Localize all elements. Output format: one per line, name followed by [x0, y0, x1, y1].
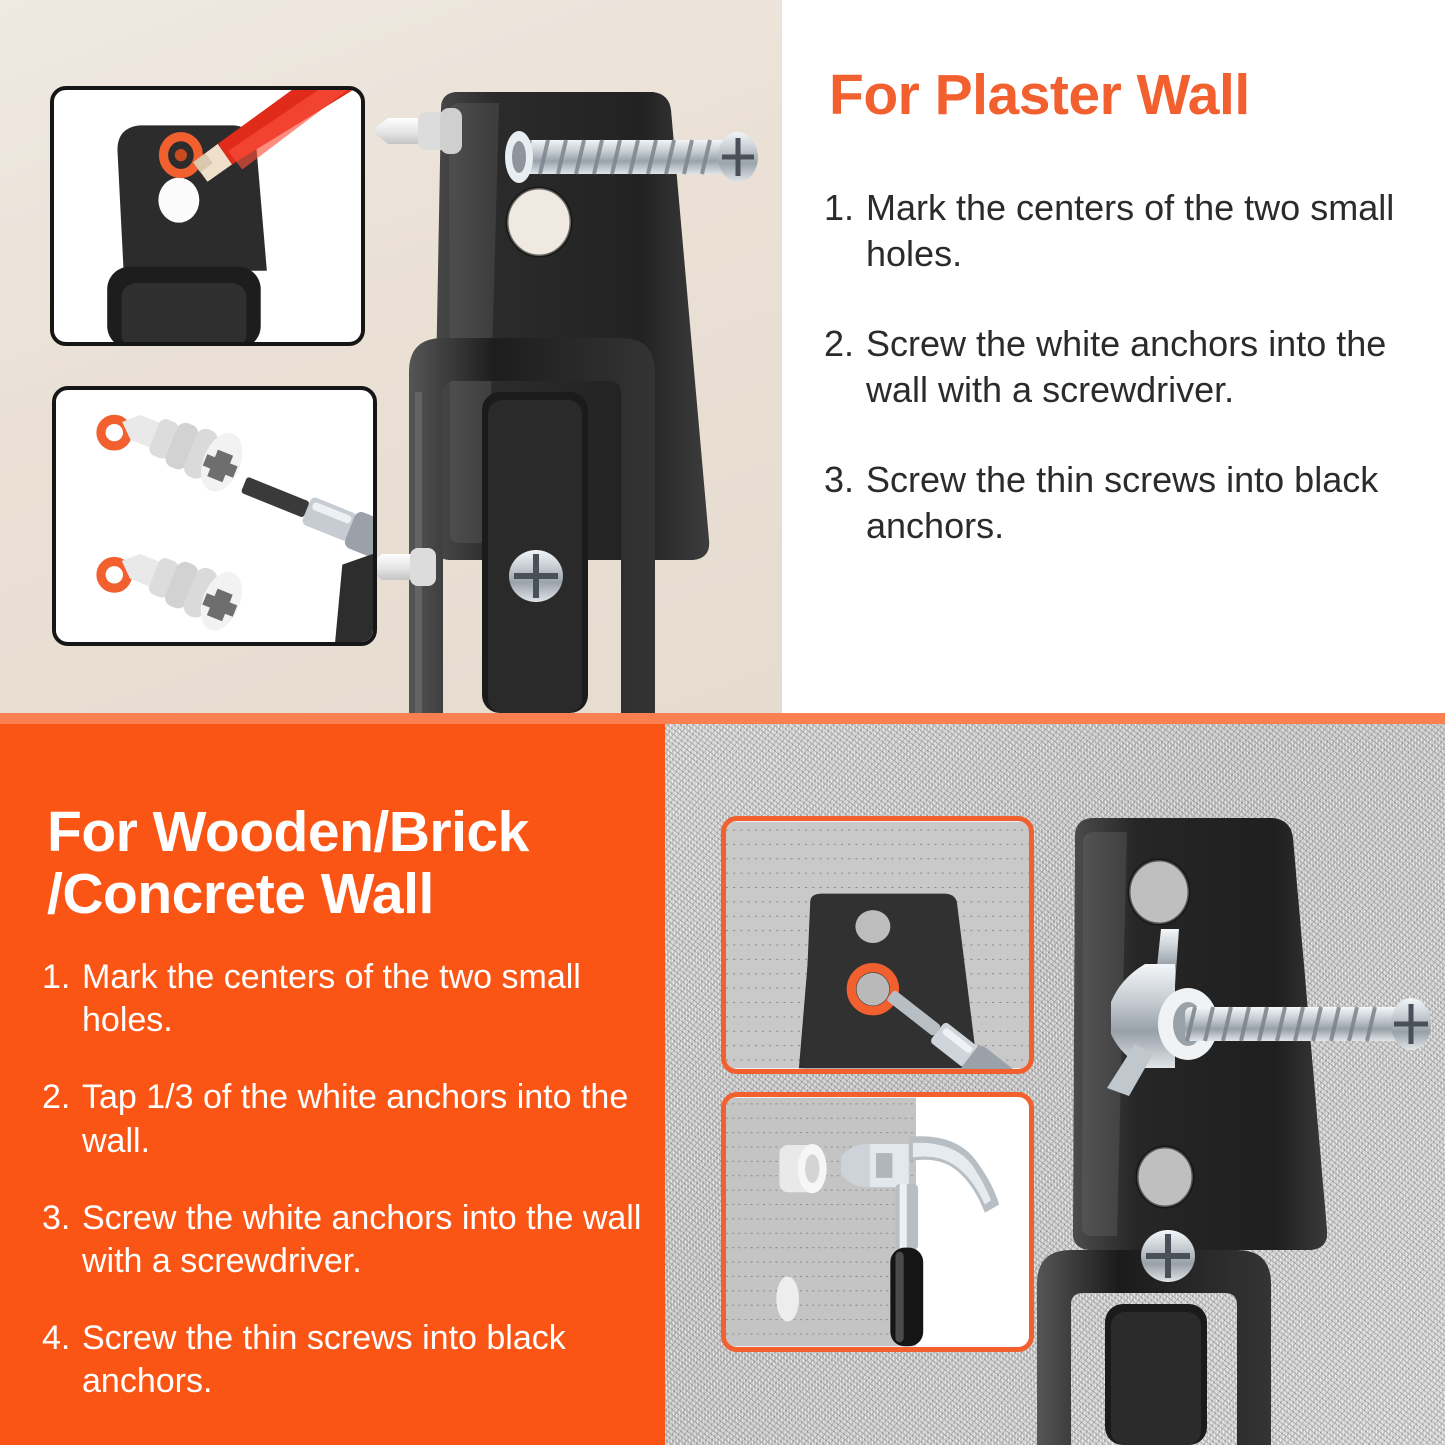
step-text: Mark the centers of the two small holes. — [866, 185, 1434, 277]
plaster-wall-section: MA — [0, 0, 1445, 713]
plaster-wall-steps: 1. Mark the centers of the two small hol… — [824, 185, 1434, 593]
plaster-wall-heading: For Plaster Wall — [829, 66, 1429, 126]
plaster-wall-photo: MA — [0, 0, 782, 713]
concrete-wall-photo — [665, 724, 1445, 1445]
pencil-marking-inset: MA — [50, 86, 365, 346]
step-text: Screw the white anchors into the wall wi… — [82, 1197, 642, 1283]
anchor-screwdriver-illustration — [56, 390, 373, 642]
step-text: Screw the white anchors into the wall wi… — [866, 321, 1434, 413]
drill-hole-inset — [721, 816, 1034, 1074]
list-item: 1. Mark the centers of the two small hol… — [824, 185, 1434, 277]
step-text: Screw the thin screws into black anchors… — [866, 457, 1434, 549]
list-item: 2. Tap 1/3 of the white anchors into the… — [42, 1076, 642, 1162]
step-text: Tap 1/3 of the white anchors into the wa… — [82, 1076, 642, 1162]
step-text: Mark the centers of the two small holes. — [82, 956, 642, 1042]
drill-hole-illustration — [726, 821, 1029, 1069]
step-number: 4. — [42, 1317, 82, 1403]
plaster-wall-text: For Plaster Wall 1. Mark the centers of … — [782, 0, 1445, 713]
step-number: 3. — [42, 1197, 82, 1283]
installed-screw-head — [509, 550, 563, 602]
list-item: 3. Screw the white anchors into the wall… — [42, 1197, 642, 1283]
pencil-marking-illustration: MA — [54, 90, 361, 342]
step-number: 1. — [824, 185, 866, 277]
list-item: 2. Screw the white anchors into the wall… — [824, 321, 1434, 413]
list-item: 4. Screw the thin screws into black anch… — [42, 1317, 642, 1403]
heading-line-1: For Wooden/Brick — [47, 800, 529, 864]
white-anchor-top — [372, 108, 462, 154]
installed-screw-head — [1141, 1230, 1195, 1282]
hammer-anchor-illustration — [726, 1097, 1029, 1347]
section-divider — [0, 713, 1445, 724]
step-number: 2. — [824, 321, 866, 413]
wooden-wall-heading: For Wooden/Brick /Concrete Wall — [47, 802, 647, 925]
step-number: 2. — [42, 1076, 82, 1162]
step-number: 3. — [824, 457, 866, 549]
heading-line-2: /Concrete Wall — [47, 862, 434, 926]
list-item: 3. Screw the thin screws into black anch… — [824, 457, 1434, 549]
white-anchor-screwdriver-inset — [52, 386, 377, 646]
wooden-wall-steps: 1. Mark the centers of the two small hol… — [42, 956, 642, 1437]
list-item: 1. Mark the centers of the two small hol… — [42, 956, 642, 1042]
instruction-infographic: MA — [0, 0, 1445, 1445]
wooden-wall-text: For Wooden/Brick /Concrete Wall 1. Mark … — [0, 724, 665, 1445]
hammer-anchor-inset — [721, 1092, 1034, 1352]
wooden-brick-concrete-section: For Wooden/Brick /Concrete Wall 1. Mark … — [0, 724, 1445, 1445]
step-text: Screw the thin screws into black anchors… — [82, 1317, 642, 1403]
step-number: 1. — [42, 956, 82, 1042]
